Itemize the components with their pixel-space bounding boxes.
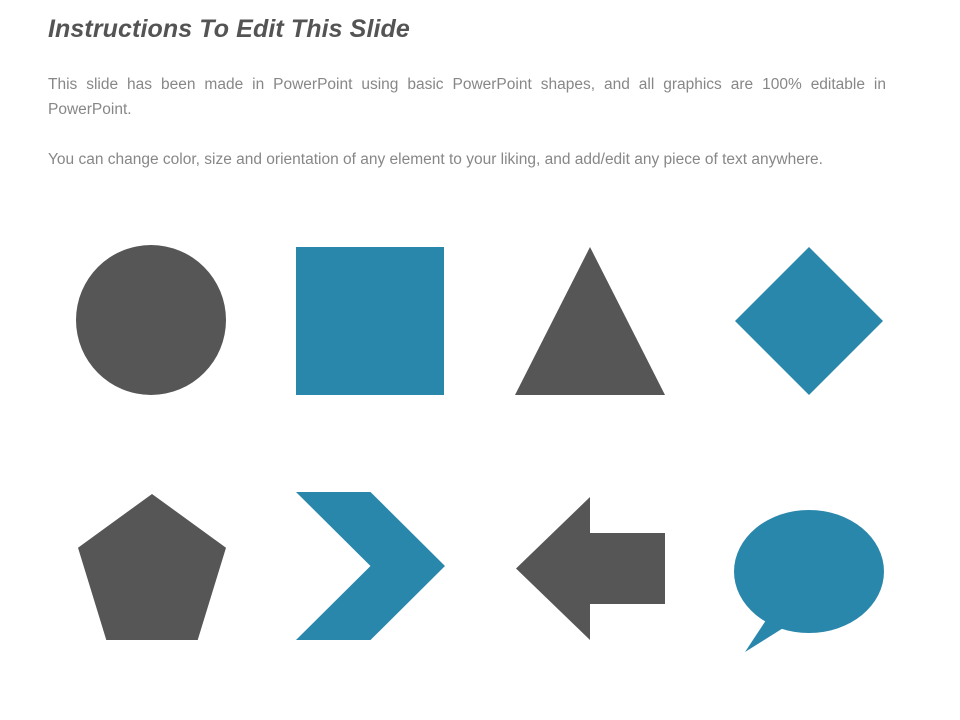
triangle-icon: [515, 247, 665, 395]
chevron-shape: [296, 492, 445, 640]
speech-bubble-icon: [734, 510, 884, 653]
square-shape: [296, 247, 444, 395]
instructions-text-block: This slide has been made in PowerPoint u…: [48, 72, 886, 172]
chevron-right-icon: [296, 492, 445, 640]
slide-canvas: Instructions To Edit This Slide This sli…: [0, 0, 960, 720]
diamond-shape: [735, 247, 883, 395]
triangle-shape: [515, 247, 665, 395]
arrow-left-icon: [516, 497, 665, 640]
page-title: Instructions To Edit This Slide: [48, 12, 908, 46]
left-arrow-shape: [516, 497, 665, 640]
square-icon: [296, 247, 444, 395]
circle-icon: [76, 245, 226, 395]
diamond-icon: [735, 247, 883, 395]
pentagon-shape: [78, 494, 226, 640]
circle-shape: [76, 245, 226, 395]
instructions-paragraph-1: This slide has been made in PowerPoint u…: [48, 72, 886, 147]
instructions-paragraph-2: You can change color, size and orientati…: [48, 147, 886, 172]
speech-bubble-shape: [734, 510, 884, 653]
pentagon-icon: [78, 494, 226, 640]
